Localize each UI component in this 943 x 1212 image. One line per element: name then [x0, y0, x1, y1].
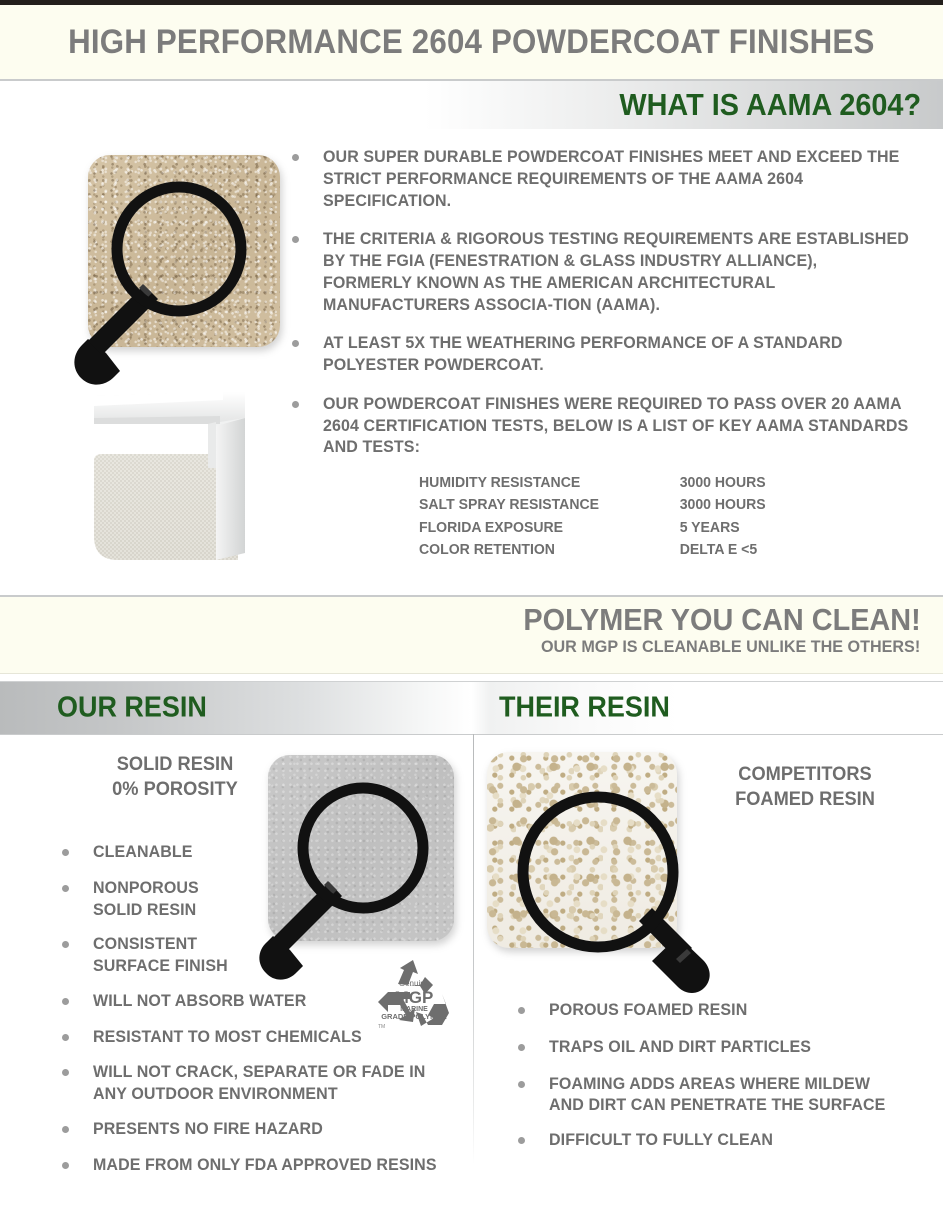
their-resin-bullet-3: FOAMING ADDS AREAS WHERE MILDEW AND DIRT… [549, 1074, 907, 1118]
list-item: POROUS FOAMED RESIN [518, 1000, 918, 1022]
aama-bullet-3: AT LEAST 5X THE WEATHERING PERFORMANCE O… [323, 333, 910, 377]
our-resin-bullet-5: RESISTANT TO MOST CHEMICALS [93, 1027, 362, 1049]
bullet-dot-icon [62, 1126, 69, 1133]
list-item: WILL NOT ABSORB WATER [62, 991, 462, 1013]
section-header-aama: WHAT IS AAMA 2604? [0, 81, 943, 129]
their-resin-subhead-line2: FOAMED RESIN [735, 789, 875, 810]
list-item: WILL NOT CRACK, SEPARATE OR FADE IN ANY … [62, 1062, 462, 1106]
our-resin-bullet-list: CLEANABLE NONPOROUS SOLID RESIN CONSISTE… [62, 842, 462, 1176]
spec-test-value: 3000 HOURS [605, 496, 766, 518]
their-resin-bullet-4: DIFFICULT TO FULLY CLEAN [549, 1130, 773, 1152]
spec-table-body: HUMIDITY RESISTANCE 3000 HOURS SALT SPRA… [419, 474, 770, 563]
table-row: SALT SPRAY RESISTANCE 3000 HOURS [419, 496, 770, 518]
our-resin-bullet-4: WILL NOT ABSORB WATER [93, 991, 306, 1013]
bullet-dot-icon [62, 1034, 69, 1041]
list-item: MADE FROM ONLY FDA APPROVED RESINS [62, 1155, 462, 1177]
our-resin-bullet-8: MADE FROM ONLY FDA APPROVED RESINS [93, 1155, 437, 1177]
bullet-dot-icon [62, 885, 69, 892]
aama-bullet-2: THE CRITERIA & RIGOROUS TESTING REQUIREM… [323, 229, 910, 316]
page-title: HIGH PERFORMANCE 2604 POWDERCOAT FINISHE… [68, 23, 874, 62]
table-row: HUMIDITY RESISTANCE 3000 HOURS [419, 474, 770, 496]
bullet-dot-icon [62, 1162, 69, 1169]
bullet-dot-icon [62, 849, 69, 856]
their-resin-heading: THEIR RESIN [499, 692, 670, 725]
aama-bullet-1: OUR SUPER DURABLE POWDERCOAT FINISHES ME… [323, 147, 910, 212]
bullet-dot-icon [518, 1137, 525, 1144]
aama-bullet-4: OUR POWDERCOAT FINISHES WERE REQUIRED TO… [323, 394, 910, 459]
list-item: FOAMING ADDS AREAS WHERE MILDEW AND DIRT… [518, 1074, 918, 1118]
list-item: TRAPS OIL AND DIRT PARTICLES [518, 1037, 918, 1059]
chair-frame-image [88, 388, 276, 563]
spec-test-name: SALT SPRAY RESISTANCE [419, 496, 599, 518]
our-resin-bullet-6: WILL NOT CRACK, SEPARATE OR FADE IN ANY … [93, 1062, 451, 1106]
bullet-dot-icon [292, 154, 299, 161]
table-row: FLORIDA EXPOSURE 5 YEARS [419, 519, 770, 541]
list-item: OUR SUPER DURABLE POWDERCOAT FINISHES ME… [292, 147, 928, 212]
spec-test-value: 5 YEARS [605, 519, 766, 541]
list-item: THE CRITERIA & RIGOROUS TESTING REQUIREM… [292, 229, 928, 316]
polymer-promo-title: POLYMER YOU CAN CLEAN! [66, 603, 943, 636]
bullet-dot-icon [292, 340, 299, 347]
their-resin-subhead: COMPETITORS FOAMED RESIN [695, 763, 916, 812]
list-item: OUR POWDERCOAT FINISHES WERE REQUIRED TO… [292, 394, 928, 459]
spec-test-value: 3000 HOURS [605, 474, 766, 496]
our-resin-subhead: SOLID RESIN 0% POROSITY [65, 753, 286, 802]
foamed-resin-image [487, 752, 677, 948]
table-row: COLOR RETENTION DELTA E <5 [419, 541, 770, 563]
polymer-promo-band: POLYMER YOU CAN CLEAN! OUR MGP IS CLEANA… [0, 595, 943, 674]
our-resin-bullet-2: NONPOROUS SOLID RESIN [93, 878, 199, 922]
section-header-aama-label: WHAT IS AAMA 2604? [619, 87, 943, 123]
aama-bullet-list: OUR SUPER DURABLE POWDERCOAT FINISHES ME… [292, 147, 928, 476]
bullet-dot-icon [62, 1069, 69, 1076]
powdercoat-swatch-image [88, 155, 280, 347]
our-resin-subhead-line2: 0% POROSITY [112, 779, 238, 800]
list-item: AT LEAST 5X THE WEATHERING PERFORMANCE O… [292, 333, 928, 377]
bullet-dot-icon [518, 1007, 525, 1014]
resin-compare-header-band: OUR RESIN THEIR RESIN [0, 681, 943, 735]
aama-spec-table: HUMIDITY RESISTANCE 3000 HOURS SALT SPRA… [419, 474, 770, 563]
their-resin-subhead-line1: COMPETITORS [738, 764, 871, 785]
bullet-dot-icon [62, 941, 69, 948]
list-item: CLEANABLE [62, 842, 462, 864]
our-resin-subhead-line1: SOLID RESIN [117, 754, 234, 775]
spec-test-name: COLOR RETENTION [419, 541, 599, 563]
spec-test-value: DELTA E <5 [605, 541, 766, 563]
list-item: DIFFICULT TO FULLY CLEAN [518, 1130, 918, 1152]
our-resin-bullet-3: CONSISTENT SURFACE FINISH [93, 934, 228, 978]
bullet-dot-icon [518, 1044, 525, 1051]
bullet-dot-icon [292, 401, 299, 408]
spec-test-name: FLORIDA EXPOSURE [419, 519, 599, 541]
bullet-dot-icon [62, 998, 69, 1005]
polymer-promo-subtitle: OUR MGP IS CLEANABLE UNLIKE THE OTHERS! [47, 636, 943, 657]
bullet-dot-icon [292, 236, 299, 243]
their-resin-bullet-list: POROUS FOAMED RESIN TRAPS OIL AND DIRT P… [518, 1000, 918, 1152]
their-resin-bullet-1: POROUS FOAMED RESIN [549, 1000, 747, 1022]
list-item: NONPOROUS SOLID RESIN [62, 878, 462, 922]
their-resin-bullet-2: TRAPS OIL AND DIRT PARTICLES [549, 1037, 811, 1059]
our-resin-bullet-1: CLEANABLE [93, 842, 193, 864]
our-resin-heading: OUR RESIN [57, 692, 207, 725]
list-item: CONSISTENT SURFACE FINISH [62, 934, 462, 978]
list-item: RESISTANT TO MOST CHEMICALS [62, 1027, 462, 1049]
spec-test-name: HUMIDITY RESISTANCE [419, 474, 599, 496]
page-title-band: HIGH PERFORMANCE 2604 POWDERCOAT FINISHE… [0, 5, 943, 81]
bullet-dot-icon [518, 1081, 525, 1088]
list-item: PRESENTS NO FIRE HAZARD [62, 1119, 462, 1141]
our-resin-bullet-7: PRESENTS NO FIRE HAZARD [93, 1119, 323, 1141]
column-divider [473, 734, 474, 1164]
